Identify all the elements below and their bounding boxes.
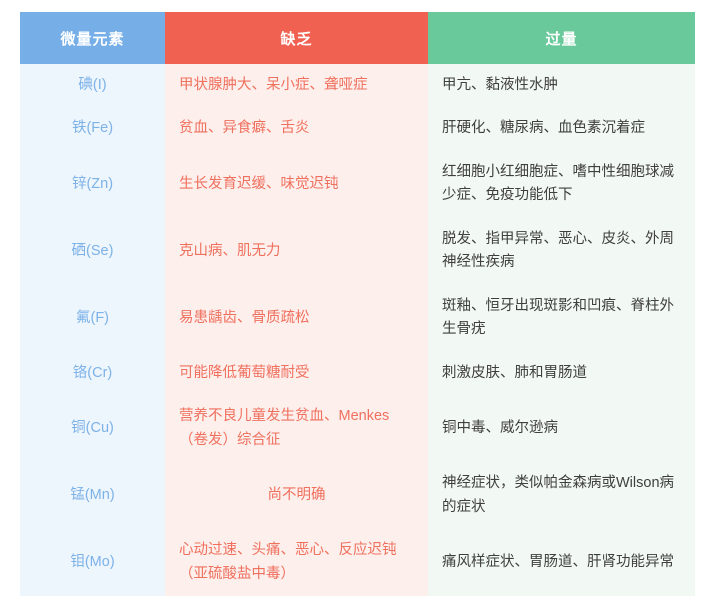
column-header-deficiency: 缺乏 [165,12,428,64]
cell-deficiency: 易患龋齿、骨质疏松 [165,285,428,352]
cell-element: 铁(Fe) [20,107,165,150]
table-row: 铬(Cr)可能降低葡萄糖耐受刺激皮肤、肺和胃肠道 [20,352,695,395]
cell-element: 氟(F) [20,285,165,352]
cell-excess: 神经症状，类似帕金森病或Wilson病的症状 [428,462,695,529]
table-row: 铜(Cu)营养不良儿童发生贫血、Menkes（卷发）综合征铜中毒、威尔逊病 [20,395,695,462]
cell-deficiency: 可能降低葡萄糖耐受 [165,352,428,395]
cell-element: 锰(Mn) [20,462,165,529]
cell-deficiency: 贫血、异食癖、舌炎 [165,107,428,150]
cell-excess: 斑釉、恒牙出现斑影和凹痕、脊柱外生骨疣 [428,285,695,352]
cell-deficiency: 尚不明确 [165,462,428,529]
table-row: 碘(I)甲状腺肿大、呆小症、聋哑症甲亢、黏液性水肿 [20,64,695,107]
cell-element: 碘(I) [20,64,165,107]
table-body: 碘(I)甲状腺肿大、呆小症、聋哑症甲亢、黏液性水肿铁(Fe)贫血、异食癖、舌炎肝… [20,64,695,596]
cell-element: 铬(Cr) [20,352,165,395]
trace-element-table-container: 微量元素 缺乏 过量 碘(I)甲状腺肿大、呆小症、聋哑症甲亢、黏液性水肿铁(Fe… [20,12,695,596]
table-row: 钼(Mo)心动过速、头痛、恶心、反应迟钝（亚硫酸盐中毒）痛风样症状、胃肠道、肝肾… [20,529,695,596]
cell-element: 硒(Se) [20,218,165,285]
cell-excess: 脱发、指甲异常、恶心、皮炎、外周神经性疾病 [428,218,695,285]
column-header-excess: 过量 [428,12,695,64]
trace-element-table: 微量元素 缺乏 过量 碘(I)甲状腺肿大、呆小症、聋哑症甲亢、黏液性水肿铁(Fe… [20,12,695,596]
cell-element: 铜(Cu) [20,395,165,462]
table-row: 锰(Mn)尚不明确神经症状，类似帕金森病或Wilson病的症状 [20,462,695,529]
cell-deficiency: 心动过速、头痛、恶心、反应迟钝（亚硫酸盐中毒） [165,529,428,596]
table-row: 锌(Zn)生长发育迟缓、味觉迟钝红细胞小红细胞症、嗜中性细胞球减少症、免疫功能低… [20,151,695,218]
cell-excess: 肝硬化、糖尿病、血色素沉着症 [428,107,695,150]
cell-deficiency: 克山病、肌无力 [165,218,428,285]
column-header-element: 微量元素 [20,12,165,64]
cell-element: 锌(Zn) [20,151,165,218]
cell-excess: 痛风样症状、胃肠道、肝肾功能异常 [428,529,695,596]
table-row: 硒(Se)克山病、肌无力脱发、指甲异常、恶心、皮炎、外周神经性疾病 [20,218,695,285]
cell-element: 钼(Mo) [20,529,165,596]
header-row: 微量元素 缺乏 过量 [20,12,695,64]
cell-deficiency: 营养不良儿童发生贫血、Menkes（卷发）综合征 [165,395,428,462]
cell-excess: 甲亢、黏液性水肿 [428,64,695,107]
cell-excess: 红细胞小红细胞症、嗜中性细胞球减少症、免疫功能低下 [428,151,695,218]
cell-excess: 刺激皮肤、肺和胃肠道 [428,352,695,395]
table-header: 微量元素 缺乏 过量 [20,12,695,64]
cell-deficiency: 甲状腺肿大、呆小症、聋哑症 [165,64,428,107]
table-row: 铁(Fe)贫血、异食癖、舌炎肝硬化、糖尿病、血色素沉着症 [20,107,695,150]
cell-deficiency: 生长发育迟缓、味觉迟钝 [165,151,428,218]
table-row: 氟(F)易患龋齿、骨质疏松斑釉、恒牙出现斑影和凹痕、脊柱外生骨疣 [20,285,695,352]
cell-excess: 铜中毒、威尔逊病 [428,395,695,462]
